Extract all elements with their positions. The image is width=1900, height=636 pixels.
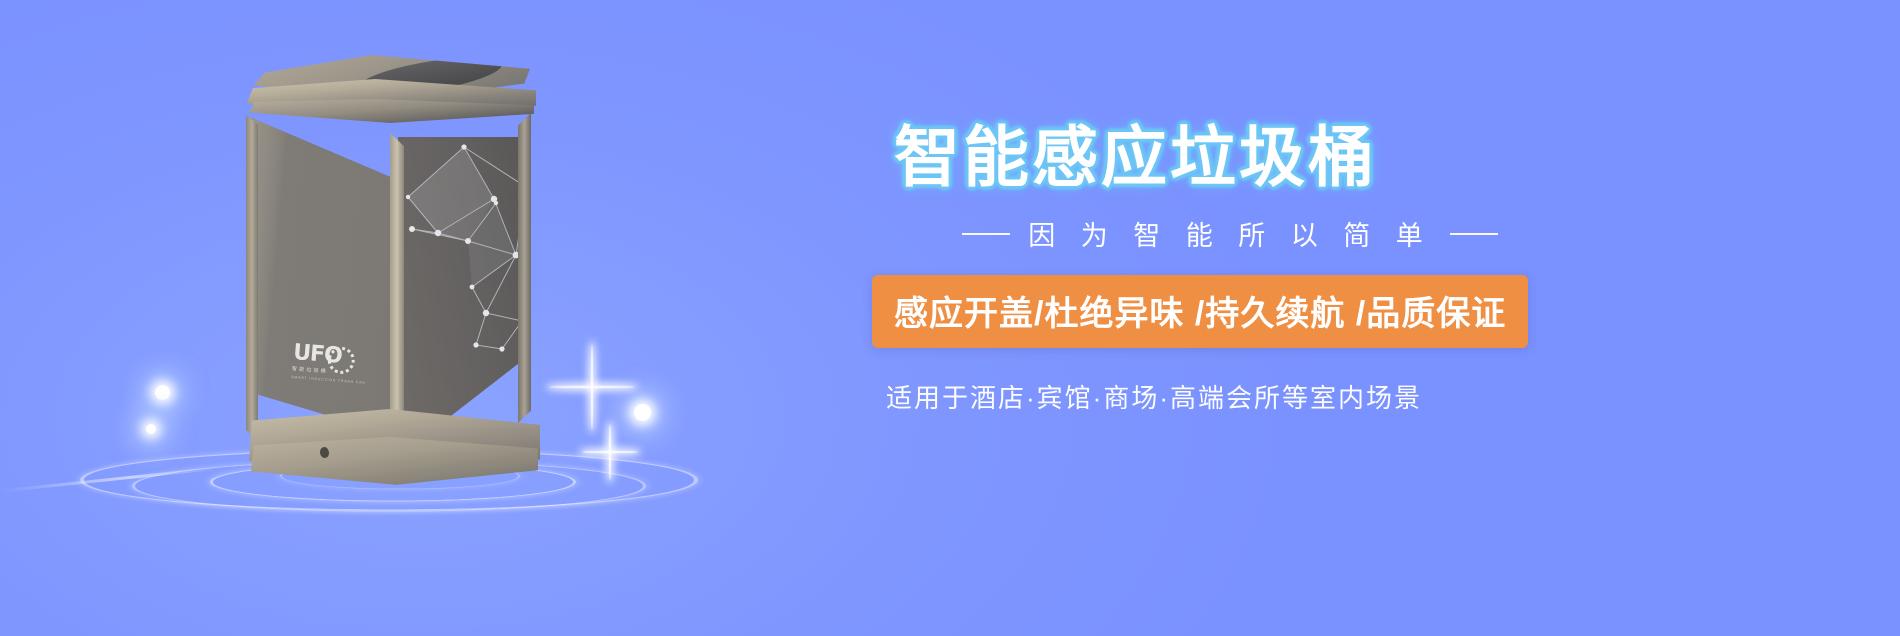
promo-copy-block: 智能感应垃圾桶 因 为 智 能 所 以 简 单 感应开盖/杜绝异味 /持久续航 … [880, 118, 1700, 415]
promo-subtitle: 因 为 智 能 所 以 简 单 [1028, 214, 1432, 253]
bin-body-side-panel [398, 137, 530, 457]
usage-scenes-text: 适用于酒店·宾馆·商场·高端会所等室内场景 [886, 378, 1700, 415]
promo-title: 智能感应垃圾桶 [894, 118, 1700, 196]
feature-highlight-text: 感应开盖/杜绝异味 /持久续航 /品质保证 [894, 295, 1506, 333]
bin-edge-right [518, 113, 531, 423]
subtitle-dash-right [1450, 233, 1498, 235]
feature-highlight-banner: 感应开盖/杜绝异味 /持久续航 /品质保证 [872, 275, 1528, 348]
subtitle-dash-left [962, 233, 1010, 235]
glow-particle-3 [634, 404, 651, 421]
glow-particle-2 [146, 424, 156, 434]
constellation-graphic [398, 137, 538, 362]
product-promo-banner: UFO 智能垃圾桶 SMART INDUCTION TRASH CAN 智能感应… [0, 0, 1900, 636]
promo-subtitle-row: 因 为 智 能 所 以 简 单 [880, 214, 1580, 253]
bin-edge-left [246, 115, 258, 443]
brand-logo: UFO 智能垃圾桶 SMART INDUCTION TRASH CAN [290, 342, 370, 398]
trash-bin-product: UFO 智能垃圾桶 SMART INDUCTION TRASH CAN [240, 55, 540, 475]
glow-particle-1 [155, 385, 170, 400]
product-stage: UFO 智能垃圾桶 SMART INDUCTION TRASH CAN [0, 0, 780, 636]
